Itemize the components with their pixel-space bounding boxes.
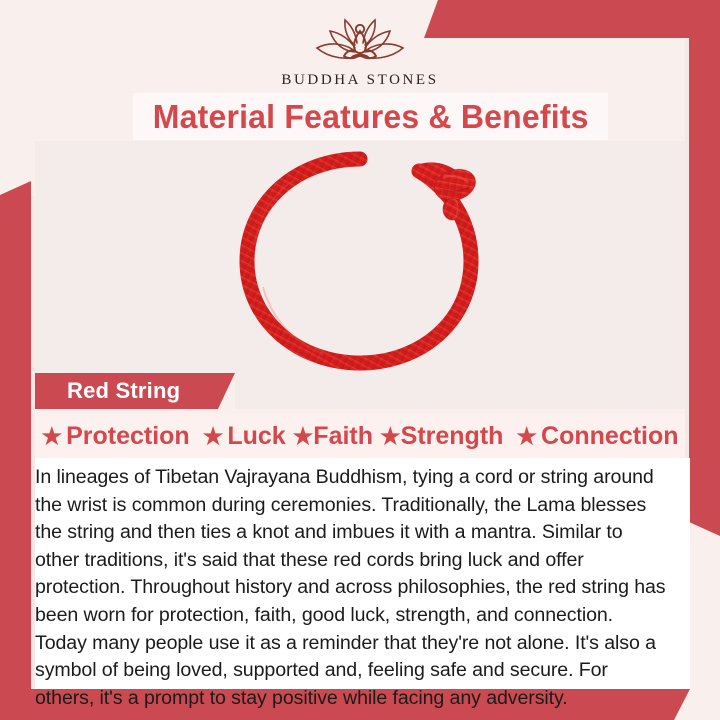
description-block: In lineages of Tibetan Vajrayana Buddhis… (35, 458, 690, 689)
page-title-band: Material Features & Benefits (133, 93, 608, 140)
star-icon: ★ (41, 425, 62, 448)
poster-root: BUDDHA STONES Material Features & Benefi… (0, 0, 720, 720)
page-title: Material Features & Benefits (153, 98, 589, 136)
product-name-label: Red String (35, 378, 180, 404)
feature-strength: ★ Strength (380, 422, 503, 451)
frame-left-accent (0, 181, 31, 720)
feature-protection: ★ Protection (41, 422, 189, 451)
star-icon: ★ (203, 425, 224, 448)
lotus-meditation-icon (308, 12, 412, 68)
feature-faith: ★ Faith (293, 422, 373, 451)
product-name-ribbon: Red String (35, 373, 235, 409)
star-icon: ★ (516, 425, 537, 448)
feature-luck: ★ Luck (203, 422, 286, 451)
feature-label: Strength (401, 422, 504, 451)
feature-label: Faith (313, 422, 373, 451)
feature-label: Protection (66, 422, 190, 451)
description-paragraph: In lineages of Tibetan Vajrayana Buddhis… (35, 464, 690, 712)
ribbon-background-strip (235, 373, 685, 409)
star-icon: ★ (380, 425, 401, 448)
brand-logo-block: BUDDHA STONES (0, 12, 720, 89)
feature-connection: ★ Connection (516, 422, 678, 451)
feature-label: Connection (541, 422, 679, 451)
red-string-bracelet-image (223, 147, 497, 373)
brand-wordmark: BUDDHA STONES (0, 72, 720, 89)
features-row: ★ Protection ★ Luck ★ Faith ★ Strength ★… (35, 414, 685, 458)
product-image-area (35, 141, 685, 373)
star-icon: ★ (293, 425, 314, 448)
feature-label: Luck (227, 422, 285, 451)
